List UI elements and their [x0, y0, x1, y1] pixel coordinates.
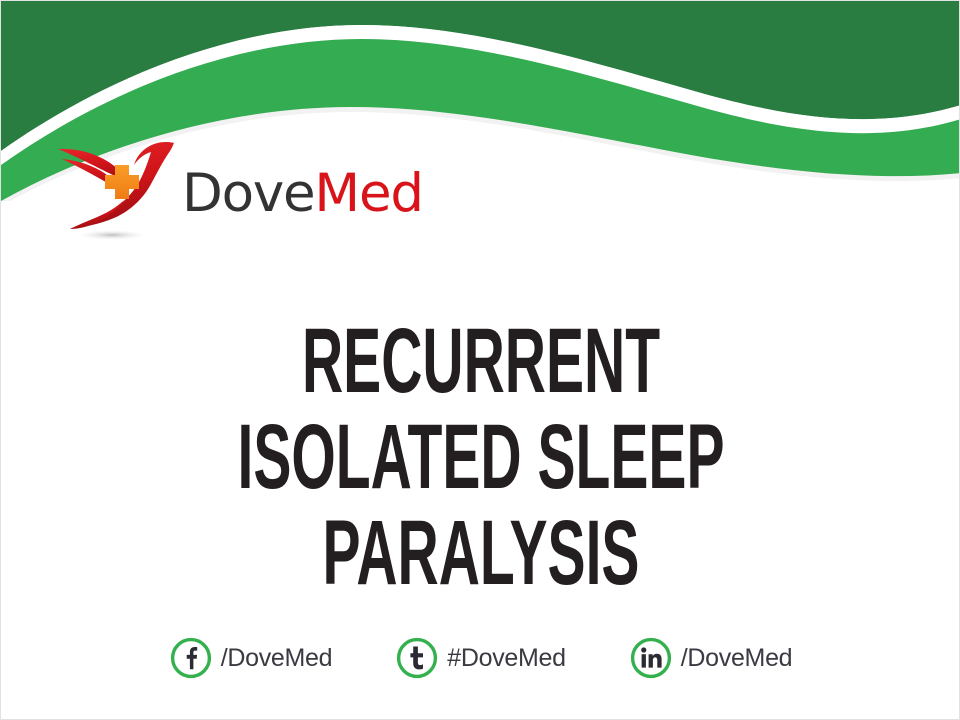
social-item-twitter[interactable]: #DoveMed — [396, 637, 566, 679]
dove-cross-logo-mark — [56, 137, 178, 245]
logo-wordmark-dove: Dove — [182, 163, 314, 224]
social-item-linkedin[interactable]: /DoveMed — [630, 637, 793, 679]
logo-wordmark: DoveMed — [182, 167, 423, 220]
social-label-twitter: #DoveMed — [447, 644, 566, 673]
slide-canvas: DoveMed RECURRENT ISOLATED SLEEP PARALYS… — [0, 0, 960, 720]
social-links-row: /DoveMed #DoveMed /DoveMed — [1, 637, 960, 679]
dovemed-logo: DoveMed — [56, 133, 456, 248]
social-label-linkedin: /DoveMed — [681, 644, 793, 673]
social-label-facebook: /DoveMed — [221, 644, 333, 673]
linkedin-icon[interactable] — [630, 637, 672, 679]
twitter-icon[interactable] — [396, 637, 438, 679]
page-title-text: RECURRENT ISOLATED SLEEP PARALYSIS — [214, 313, 747, 601]
logo-wordmark-med: Med — [314, 163, 422, 224]
page-title: RECURRENT ISOLATED SLEEP PARALYSIS — [1, 313, 960, 601]
facebook-icon[interactable] — [170, 637, 212, 679]
social-item-facebook[interactable]: /DoveMed — [170, 637, 333, 679]
logo-shadow — [74, 229, 150, 240]
